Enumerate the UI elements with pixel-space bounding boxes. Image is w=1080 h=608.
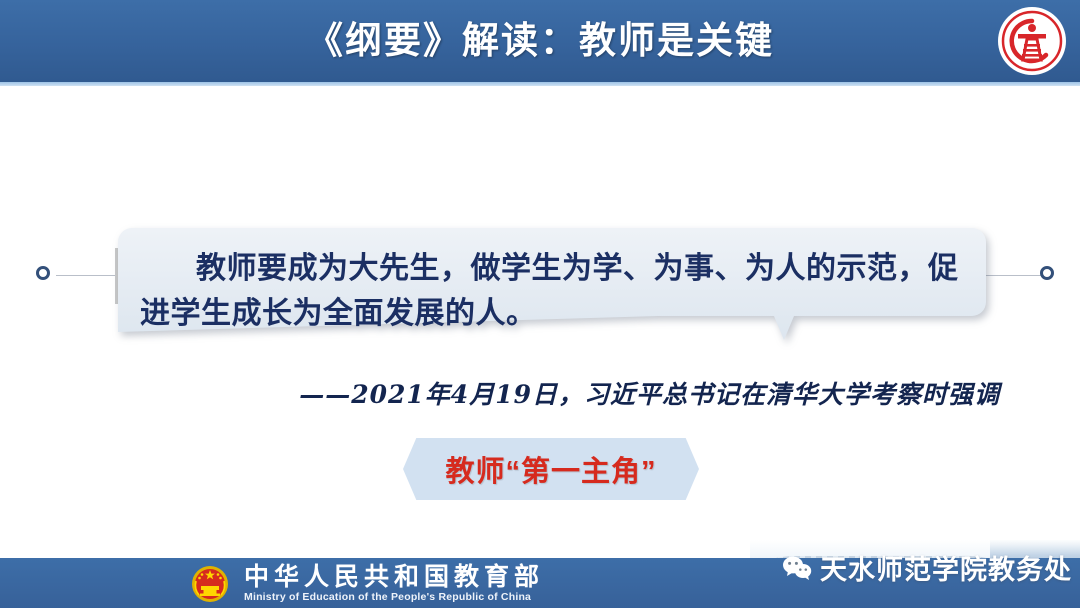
ministry-branding: 中华人民共和国教育部 Ministry of Education of the …	[190, 563, 544, 604]
quote-speech-bubble: 教师要成为大先生，做学生为学、为事、为人的示范，促进学生成长为全面发展的人。	[118, 228, 986, 348]
timeline-start-circle-icon	[36, 266, 50, 280]
quote-attribution: ——2021年4月19日，习近平总书记在清华大学考察时强调	[0, 375, 1000, 411]
slide-title-bar: 《纲要》解读：教师是关键	[0, 0, 1080, 82]
national-emblem-icon	[190, 564, 230, 604]
wechat-watermark: 天水师范学院教务处	[782, 548, 1072, 587]
wechat-account-name: 天水师范学院教务处	[820, 548, 1072, 587]
step-navigation: 为什么 是什么 做什么 怎么做 谁来做	[0, 120, 1080, 196]
ministry-name-cn: 中华人民共和国教育部	[244, 563, 544, 590]
timeline-end-circle-icon	[1040, 266, 1054, 280]
key-point-label: 教师“第一主角”	[445, 448, 656, 490]
page-title: 《纲要》解读：教师是关键	[0, 0, 1080, 82]
school-emblem-icon	[998, 7, 1066, 75]
quote-text: 教师要成为大先生，做学生为学、为事、为人的示范，促进学生成长为全面发展的人。	[140, 246, 968, 336]
wechat-icon	[782, 555, 812, 581]
key-point-banner: 教师“第一主角”	[403, 438, 699, 500]
presentation-slide: 《纲要》解读：教师是关键 为什么 是什么 做什么	[0, 0, 1080, 608]
ministry-name-en: Ministry of Education of the People's Re…	[244, 590, 544, 604]
